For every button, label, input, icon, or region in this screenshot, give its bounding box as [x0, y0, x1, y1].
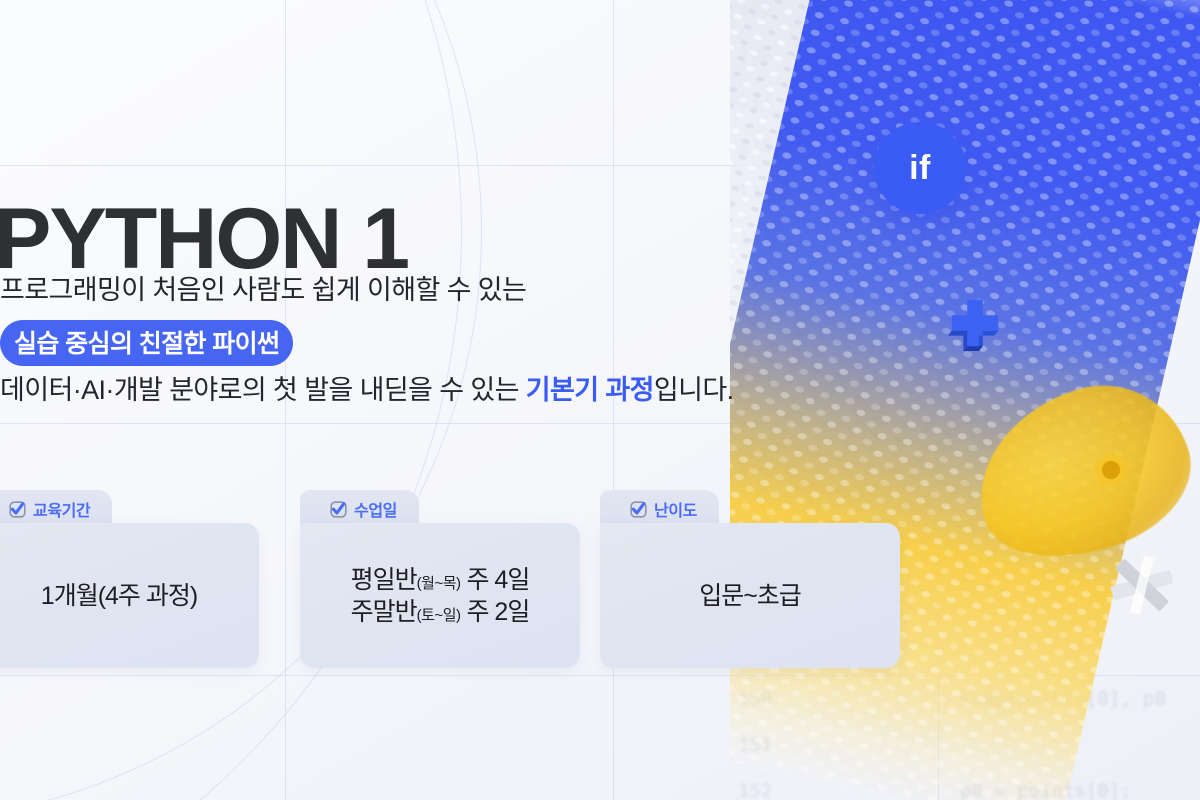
plus-3d-icon — [946, 294, 1004, 352]
info-card-value: 평일반(월~목) 주 4일 — [351, 564, 530, 596]
info-card-value-main: 평일반 — [351, 566, 417, 594]
info-card: 난이도입문~초급 — [600, 490, 880, 668]
subtitle-line-2: 데이터·AI·개발 분야로의 첫 발을 내딛을 수 있는 기본기 과정입니다. — [0, 368, 733, 407]
info-card-value-tail: 주 4일 — [461, 566, 530, 594]
info-card-label: 난이도 — [654, 497, 697, 521]
info-card-label: 교육기간 — [33, 497, 90, 521]
info-card-label: 수업일 — [354, 497, 397, 521]
highlight-pill-row: 실습 중심의 친절한 파이썬 — [0, 320, 293, 366]
info-card-value: 1개월(4주 과정) — [41, 580, 197, 612]
info-card-body: 입문~초급 — [600, 523, 900, 668]
subtitle-line-2-accent: 기본기 과정 — [526, 375, 654, 405]
subtitle-line-2-after: 입니다. — [654, 375, 734, 405]
subtitle-line-2-before: 데이터·AI·개발 분야로의 첫 발을 내딛을 수 있는 — [0, 375, 526, 405]
hero-banner: 135136137}138139int140{141142143{1441451… — [0, 0, 1200, 800]
if-badge-label: if — [909, 149, 931, 188]
info-card-body: 1개월(4주 과정) — [0, 523, 259, 668]
info-card-list: 교육기간1개월(4주 과정)수업일평일반(월~목) 주 4일주말반(토~일) 주… — [0, 490, 1200, 680]
info-card-value-main: 주말반 — [351, 598, 417, 626]
info-card: 교육기간1개월(4주 과정) — [0, 490, 259, 668]
info-card-value-main: 1개월(4주 과정) — [41, 582, 197, 610]
info-card-value-tail: 주 2일 — [461, 598, 530, 626]
info-card-value-note: (월~목) — [417, 575, 461, 592]
code-artwork: 135136137}138139int140{141142143{1441451… — [730, 0, 1200, 800]
info-card-value: 입문~초급 — [699, 580, 801, 612]
info-card-value: 주말반(토~일) 주 2일 — [351, 596, 530, 628]
info-card: 수업일평일반(월~목) 주 4일주말반(토~일) 주 2일 — [300, 490, 580, 668]
info-card-value-note: (토~일) — [417, 607, 461, 624]
info-card-value-main: 입문~초급 — [699, 582, 801, 610]
check-square-icon — [330, 501, 347, 518]
subtitle-line-1: 프로그래밍이 처음인 사람도 쉽게 이해할 수 있는 — [0, 268, 526, 307]
if-keyword-badge: if — [874, 122, 966, 214]
check-square-icon — [9, 501, 26, 518]
info-card-body: 평일반(월~목) 주 4일주말반(토~일) 주 2일 — [300, 523, 580, 668]
check-square-icon — [630, 501, 647, 518]
highlight-pill: 실습 중심의 친절한 파이썬 — [0, 320, 293, 366]
